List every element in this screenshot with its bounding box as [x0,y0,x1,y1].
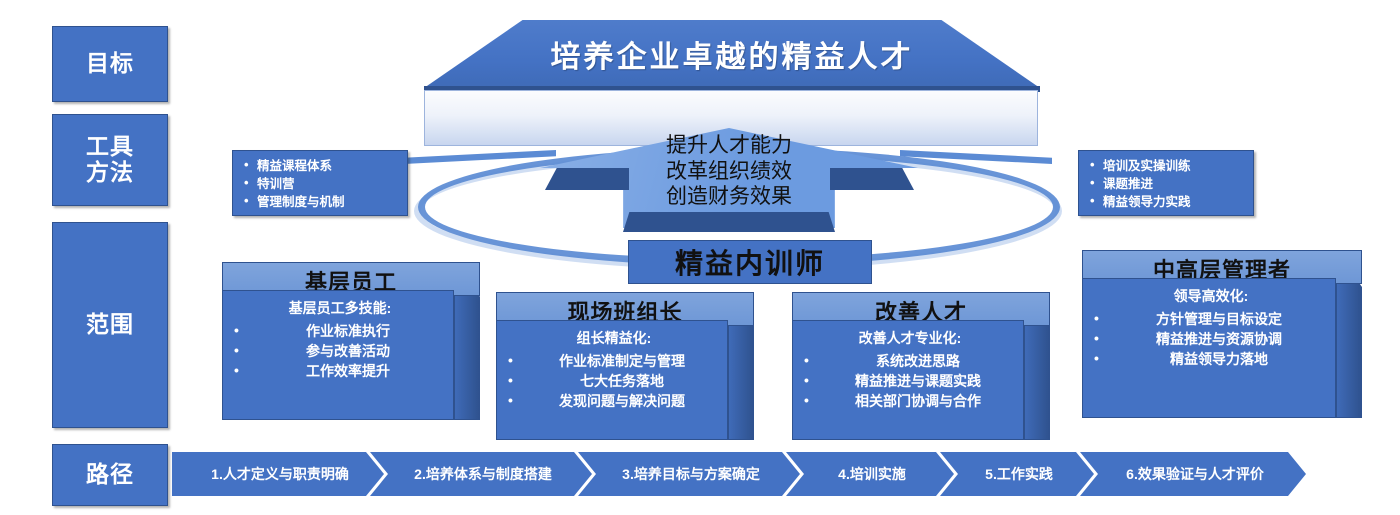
center-arrow-text: 提升人才能力改革组织绩效创造财务效果 [628,133,830,210]
scope-box-head: 改善人才专业化: [803,329,1017,349]
scope-box-senior-management: 中高层管理者 领导高效化: 方针管理与目标设定精益推进与资源协调精益领导力落地 [1082,250,1362,418]
row-label-scope: 范围 [52,222,168,428]
list-item: 七大任务落地 [523,371,721,391]
list-item: 方针管理与目标设定 [1109,309,1329,329]
tools-box-left: 精益课程体系特训营管理制度与机制 [232,150,408,216]
scope-box-improvement-talent: 改善人才 改善人才专业化: 系统改进思路精益推进与课题实践相关部门协调与合作 [792,292,1050,440]
path-step-label: 3.培养目标与方案确定 [618,464,760,484]
row-label-scope-text: 范围 [86,312,134,338]
path-step-3[interactable]: 3.培养目标与方案确定 [578,452,800,496]
row-label-tools-text: 工具方法 [86,134,134,186]
path-step-2[interactable]: 2.培养体系与制度搭建 [370,452,592,496]
scope-box-team-leader: 现场班组长 组长精益化: 作业标准制定与管理七大任务落地发现问题与解决问题 [496,292,754,440]
tools-left-list: 精益课程体系特训营管理制度与机制 [243,157,399,211]
path-step-label: 1.人才定义与职责明确 [207,464,349,484]
cube-front: 领导高效化: 方针管理与目标设定精益推进与资源协调精益领导力落地 [1082,278,1336,418]
tools-right-list: 培训及实操训练课题推进精益领导力实践 [1089,157,1245,211]
row-label-goal: 目标 [52,26,168,102]
cube-front: 改善人才专业化: 系统改进思路精益推进与课题实践相关部门协调与合作 [792,320,1024,440]
path-step-label: 6.效果验证与人才评价 [1122,464,1264,484]
arrow-wing-right-lip [830,168,914,190]
diagram-canvas: 目标 工具方法 范围 路径 培养企业卓越的精益人才 提升人才能力改革组织绩效创造… [0,0,1400,515]
list-item: 发现问题与解决问题 [523,391,721,411]
list-item: 培训及实操训练 [1103,157,1245,175]
tools-box-right: 培训及实操训练课题推进精益领导力实践 [1078,150,1254,216]
path-step-label: 2.培养体系与制度搭建 [410,464,552,484]
goal-banner: 培养企业卓越的精益人才 [424,20,1040,88]
list-item: 管理制度与机制 [257,193,399,211]
path-step-4[interactable]: 4.培训实施 [786,452,954,496]
list-item: 精益课程体系 [257,157,399,175]
path-step-label: 4.培训实施 [834,464,906,484]
cube-front: 组长精益化: 作业标准制定与管理七大任务落地发现问题与解决问题 [496,320,728,440]
list-item: 精益领导力实践 [1103,193,1245,211]
path-step-6[interactable]: 6.效果验证与人才评价 [1080,452,1306,496]
list-item: 精益推进与资源协调 [1109,329,1329,349]
scope-box-frontline: 基层员工 基层员工多技能: 作业标准执行参与改善活动工作效率提升 [222,262,480,420]
center-caption-text: 精益内训师 [675,242,825,282]
path-step-label: 5.工作实践 [981,464,1053,484]
list-item: 相关部门协调与合作 [819,391,1017,411]
center-caption: 精益内训师 [628,240,872,284]
scope-box-head: 组长精益化: [507,329,721,349]
list-item: 精益推进与课题实践 [819,371,1017,391]
list-item: 参与改善活动 [249,341,447,361]
list-item: 特训营 [257,175,399,193]
path-step-1[interactable]: 1.人才定义与职责明确 [172,452,384,496]
list-item: 系统改进思路 [819,351,1017,371]
list-item: 作业标准执行 [249,321,447,341]
scope-box-list: 作业标准执行参与改善活动工作效率提升 [233,321,447,382]
scope-box-head: 领导高效化: [1093,287,1329,307]
list-item: 课题推进 [1103,175,1245,193]
scope-box-list: 系统改进思路精益推进与课题实践相关部门协调与合作 [803,351,1017,412]
list-item: 工作效率提升 [249,361,447,381]
path-step-5[interactable]: 5.工作实践 [940,452,1094,496]
row-label-tools: 工具方法 [52,114,168,206]
goal-banner-title: 培养企业卓越的精益人才 [551,32,914,76]
row-label-path: 路径 [52,444,168,506]
scope-box-list: 方针管理与目标设定精益推进与资源协调精益领导力落地 [1093,309,1329,370]
scope-box-head: 基层员工多技能: [233,299,447,319]
arrow-base-lip [623,212,835,232]
list-item: 精益领导力落地 [1109,349,1329,369]
arrow-wing-left-lip [545,168,629,190]
scope-box-list: 作业标准制定与管理七大任务落地发现问题与解决问题 [507,351,721,412]
list-item: 作业标准制定与管理 [523,351,721,371]
row-label-goal-text: 目标 [86,51,134,77]
cube-front: 基层员工多技能: 作业标准执行参与改善活动工作效率提升 [222,290,454,420]
row-label-path-text: 路径 [86,462,134,488]
